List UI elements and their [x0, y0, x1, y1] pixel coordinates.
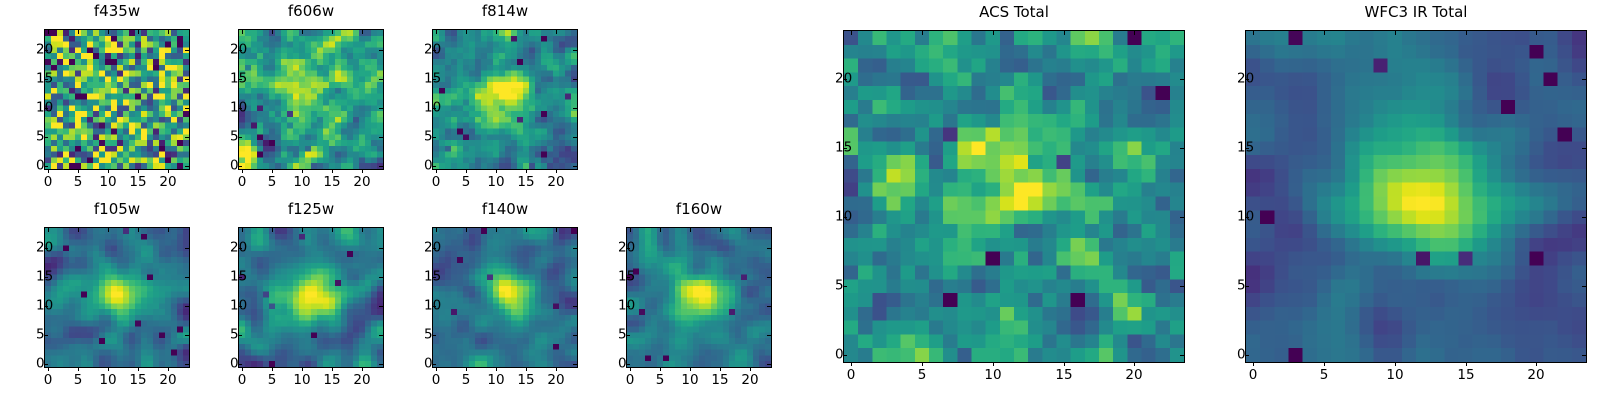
xtick-f435w-15	[138, 169, 139, 173]
xtick-f606w-20	[362, 169, 363, 173]
ytick-right-wfc3-ir-total-10	[1582, 217, 1586, 218]
ytick-acs-total-0	[843, 355, 847, 356]
panel-title-f435w: f435w	[44, 4, 190, 19]
xticklabel-f125w-10: 10	[293, 374, 310, 388]
axes-f160w	[626, 227, 772, 368]
ytick-acs-total-5	[843, 286, 847, 287]
ytick-f606w-5	[238, 137, 242, 138]
panel-f140w: f140w0510152005101520	[432, 201, 578, 394]
xticklabel-f814w-0: 0	[432, 176, 441, 190]
xtick-top-f160w-10	[690, 228, 691, 232]
xtick-f125w-20	[362, 367, 363, 371]
panel-title-f125w: f125w	[238, 202, 384, 217]
xtick-top-f160w-20	[750, 228, 751, 232]
xtick-acs-total-15	[1064, 362, 1065, 366]
xticklabel-wfc3-ir-total-5: 5	[1320, 369, 1329, 383]
xtick-top-f140w-5	[466, 228, 467, 232]
xtick-f160w-20	[750, 367, 751, 371]
heatmap-wfc3-ir-total	[1246, 31, 1586, 362]
xticklabel-acs-total-0: 0	[847, 369, 856, 383]
axes-f125w	[238, 227, 384, 368]
xticklabel-wfc3-ir-total-20: 20	[1527, 369, 1544, 383]
ytick-f814w-5	[432, 137, 436, 138]
xtick-f140w-20	[556, 367, 557, 371]
heatmap-f105w	[45, 228, 189, 367]
xticklabel-f160w-10: 10	[681, 374, 698, 388]
xtick-top-f435w-10	[108, 30, 109, 34]
xtick-f814w-15	[526, 169, 527, 173]
axes-f105w	[44, 227, 190, 368]
panel-title-f814w: f814w	[432, 4, 578, 19]
ytick-right-f814w-10	[573, 108, 577, 109]
xtick-top-wfc3-ir-total-0	[1253, 31, 1254, 35]
ytick-right-f435w-20	[185, 50, 189, 51]
xtick-f814w-0	[436, 169, 437, 173]
xtick-f435w-5	[78, 169, 79, 173]
xtick-top-acs-total-20	[1134, 31, 1135, 35]
xticklabel-f140w-10: 10	[487, 374, 504, 388]
ytick-right-wfc3-ir-total-15	[1582, 148, 1586, 149]
panel-f606w: f606w0510152005101520	[238, 3, 384, 196]
xticklabel-f105w-15: 15	[129, 374, 146, 388]
xticklabel-f435w-0: 0	[44, 176, 53, 190]
axes-f814w	[432, 29, 578, 170]
xtick-f105w-20	[168, 367, 169, 371]
xticklabel-f606w-0: 0	[238, 176, 247, 190]
xtick-wfc3-ir-total-20	[1536, 362, 1537, 366]
xtick-top-f606w-5	[272, 30, 273, 34]
xticklabel-f160w-20: 20	[741, 374, 758, 388]
xtick-f814w-20	[556, 169, 557, 173]
heatmap-acs-total	[844, 31, 1184, 362]
xtick-top-f125w-15	[332, 228, 333, 232]
xtick-f140w-15	[526, 367, 527, 371]
xtick-top-acs-total-5	[922, 31, 923, 35]
xtick-top-f814w-5	[466, 30, 467, 34]
axes-acs-total	[843, 30, 1185, 363]
xticklabel-f125w-0: 0	[238, 374, 247, 388]
xtick-top-f160w-5	[660, 228, 661, 232]
xtick-top-f814w-10	[496, 30, 497, 34]
ytick-right-acs-total-0	[1180, 355, 1184, 356]
xtick-wfc3-ir-total-0	[1253, 362, 1254, 366]
xtick-top-f606w-15	[332, 30, 333, 34]
xticklabel-f160w-15: 15	[711, 374, 728, 388]
xtick-f606w-5	[272, 169, 273, 173]
xticklabel-f435w-5: 5	[74, 176, 83, 190]
xtick-f435w-10	[108, 169, 109, 173]
xtick-top-wfc3-ir-total-20	[1536, 31, 1537, 35]
xticklabel-f105w-10: 10	[99, 374, 116, 388]
xticklabel-f125w-15: 15	[323, 374, 340, 388]
xtick-f125w-0	[242, 367, 243, 371]
xtick-top-f606w-0	[242, 30, 243, 34]
xticklabel-f435w-15: 15	[129, 176, 146, 190]
ytick-right-f606w-15	[379, 79, 383, 80]
xticklabel-acs-total-20: 20	[1125, 369, 1142, 383]
xtick-f105w-15	[138, 367, 139, 371]
heatmap-f140w	[433, 228, 577, 367]
xticklabel-f814w-20: 20	[547, 176, 564, 190]
xtick-f140w-0	[436, 367, 437, 371]
xtick-top-f125w-10	[302, 228, 303, 232]
xtick-top-f125w-20	[362, 228, 363, 232]
ytick-right-f125w-0	[379, 364, 383, 365]
ytick-right-f105w-15	[185, 277, 189, 278]
panel-f125w: f125w0510152005101520	[238, 201, 384, 394]
xticklabel-acs-total-5: 5	[918, 369, 927, 383]
xticklabel-f105w-0: 0	[44, 374, 53, 388]
ytick-right-f125w-5	[379, 335, 383, 336]
ytick-right-f814w-20	[573, 50, 577, 51]
xtick-top-f814w-20	[556, 30, 557, 34]
ytick-right-f140w-5	[573, 335, 577, 336]
xticklabel-f814w-10: 10	[487, 176, 504, 190]
xtick-top-acs-total-10	[993, 31, 994, 35]
xtick-top-f160w-15	[720, 228, 721, 232]
ytick-wfc3-ir-total-0	[1245, 355, 1249, 356]
xtick-f606w-15	[332, 169, 333, 173]
xtick-f435w-0	[48, 169, 49, 173]
xticklabel-f435w-20: 20	[159, 176, 176, 190]
ytick-right-f435w-15	[185, 79, 189, 80]
ytick-right-f140w-15	[573, 277, 577, 278]
ytick-right-f606w-0	[379, 166, 383, 167]
xtick-top-acs-total-0	[851, 31, 852, 35]
xtick-top-f606w-20	[362, 30, 363, 34]
xtick-top-f435w-5	[78, 30, 79, 34]
ytick-right-f105w-20	[185, 248, 189, 249]
xtick-top-f435w-0	[48, 30, 49, 34]
panel-title-f160w: f160w	[626, 202, 772, 217]
panel-title-f140w: f140w	[432, 202, 578, 217]
xticklabel-f140w-20: 20	[547, 374, 564, 388]
xtick-top-f125w-5	[272, 228, 273, 232]
ytick-f160w-0	[626, 364, 630, 365]
xtick-top-wfc3-ir-total-5	[1324, 31, 1325, 35]
xtick-top-f140w-20	[556, 228, 557, 232]
ytick-f814w-0	[432, 166, 436, 167]
xtick-top-f435w-20	[168, 30, 169, 34]
ytick-right-acs-total-10	[1180, 217, 1184, 218]
ytick-right-f814w-5	[573, 137, 577, 138]
ytick-f160w-5	[626, 335, 630, 336]
heatmap-f814w	[433, 30, 577, 169]
xtick-top-f814w-15	[526, 30, 527, 34]
ytick-right-f435w-10	[185, 108, 189, 109]
xtick-top-f606w-10	[302, 30, 303, 34]
axes-f435w	[44, 29, 190, 170]
xtick-f140w-10	[496, 367, 497, 371]
xticklabel-f105w-20: 20	[159, 374, 176, 388]
xtick-top-f105w-0	[48, 228, 49, 232]
xtick-f125w-5	[272, 367, 273, 371]
panel-wfc3-ir-total: WFC3 IR Total0510152005101520	[1245, 4, 1587, 389]
xticklabel-f814w-5: 5	[462, 176, 471, 190]
ytick-right-f105w-10	[185, 306, 189, 307]
ytick-f435w-0	[44, 166, 48, 167]
ytick-right-wfc3-ir-total-5	[1582, 286, 1586, 287]
xticklabel-f160w-0: 0	[626, 374, 635, 388]
xtick-f160w-0	[630, 367, 631, 371]
xtick-f105w-10	[108, 367, 109, 371]
ytick-f125w-5	[238, 335, 242, 336]
axes-f140w	[432, 227, 578, 368]
ytick-right-wfc3-ir-total-20	[1582, 79, 1586, 80]
ytick-f606w-0	[238, 166, 242, 167]
xtick-f105w-0	[48, 367, 49, 371]
ytick-right-f435w-5	[185, 137, 189, 138]
xticklabel-f140w-5: 5	[462, 374, 471, 388]
ytick-right-f160w-20	[767, 248, 771, 249]
ytick-right-acs-total-5	[1180, 286, 1184, 287]
xtick-wfc3-ir-total-10	[1395, 362, 1396, 366]
xticklabel-f105w-5: 5	[74, 374, 83, 388]
ytick-right-f140w-10	[573, 306, 577, 307]
heatmap-f606w	[239, 30, 383, 169]
xtick-top-f105w-5	[78, 228, 79, 232]
xtick-acs-total-10	[993, 362, 994, 366]
ytick-right-f140w-0	[573, 364, 577, 365]
ytick-right-f814w-15	[573, 79, 577, 80]
xtick-wfc3-ir-total-5	[1324, 362, 1325, 366]
ytick-f435w-5	[44, 137, 48, 138]
xtick-f160w-15	[720, 367, 721, 371]
xticklabel-f160w-5: 5	[656, 374, 665, 388]
xtick-wfc3-ir-total-15	[1466, 362, 1467, 366]
xtick-f435w-20	[168, 169, 169, 173]
xtick-f140w-5	[466, 367, 467, 371]
ytick-right-f606w-10	[379, 108, 383, 109]
ytick-f125w-0	[238, 364, 242, 365]
ytick-right-f140w-20	[573, 248, 577, 249]
xticklabel-f606w-5: 5	[268, 176, 277, 190]
ytick-f105w-5	[44, 335, 48, 336]
xtick-f814w-10	[496, 169, 497, 173]
axes-wfc3-ir-total	[1245, 30, 1587, 363]
ytick-wfc3-ir-total-5	[1245, 286, 1249, 287]
panel-acs-total: ACS Total0510152005101520	[843, 4, 1185, 389]
ytick-right-f160w-0	[767, 364, 771, 365]
ytick-right-acs-total-20	[1180, 79, 1184, 80]
xtick-top-f140w-15	[526, 228, 527, 232]
xtick-top-f105w-10	[108, 228, 109, 232]
xticklabel-f606w-15: 15	[323, 176, 340, 190]
ytick-right-f160w-5	[767, 335, 771, 336]
ytick-f140w-5	[432, 335, 436, 336]
xtick-top-f105w-20	[168, 228, 169, 232]
xtick-f125w-10	[302, 367, 303, 371]
xtick-top-f140w-10	[496, 228, 497, 232]
xticklabel-f606w-20: 20	[353, 176, 370, 190]
ytick-right-f606w-5	[379, 137, 383, 138]
xtick-top-f814w-0	[436, 30, 437, 34]
xticklabel-f140w-0: 0	[432, 374, 441, 388]
xtick-top-f435w-15	[138, 30, 139, 34]
axes-f606w	[238, 29, 384, 170]
panel-f160w: f160w0510152005101520	[626, 201, 772, 394]
ytick-right-f160w-15	[767, 277, 771, 278]
ytick-right-f105w-5	[185, 335, 189, 336]
xticklabel-f814w-15: 15	[517, 176, 534, 190]
xtick-acs-total-20	[1134, 362, 1135, 366]
panel-f435w: f435w0510152005101520	[44, 3, 190, 196]
xtick-top-f105w-15	[138, 228, 139, 232]
xtick-f105w-5	[78, 367, 79, 371]
ytick-right-f606w-20	[379, 50, 383, 51]
ytick-right-f105w-0	[185, 364, 189, 365]
xtick-top-wfc3-ir-total-10	[1395, 31, 1396, 35]
figure-canvas: f435w0510152005101520f606w05101520051015…	[0, 0, 1600, 400]
panel-title-f606w: f606w	[238, 4, 384, 19]
xticklabel-f606w-10: 10	[293, 176, 310, 190]
panel-f105w: f105w0510152005101520	[44, 201, 190, 394]
xtick-top-f160w-0	[630, 228, 631, 232]
ytick-f105w-0	[44, 364, 48, 365]
ytick-right-f160w-10	[767, 306, 771, 307]
xtick-top-f140w-0	[436, 228, 437, 232]
xticklabel-f140w-15: 15	[517, 374, 534, 388]
xtick-f814w-5	[466, 169, 467, 173]
xtick-top-acs-total-15	[1064, 31, 1065, 35]
xtick-top-wfc3-ir-total-15	[1466, 31, 1467, 35]
xticklabel-f435w-10: 10	[99, 176, 116, 190]
ytick-right-f125w-20	[379, 248, 383, 249]
panel-title-wfc3-ir-total: WFC3 IR Total	[1245, 5, 1587, 20]
xticklabel-acs-total-15: 15	[1055, 369, 1072, 383]
xtick-acs-total-5	[922, 362, 923, 366]
xticklabel-f125w-20: 20	[353, 374, 370, 388]
ytick-right-f435w-0	[185, 166, 189, 167]
xtick-f606w-10	[302, 169, 303, 173]
panel-title-acs-total: ACS Total	[843, 5, 1185, 20]
ytick-right-acs-total-15	[1180, 148, 1184, 149]
xtick-f160w-5	[660, 367, 661, 371]
ytick-f140w-0	[432, 364, 436, 365]
heatmap-f435w	[45, 30, 189, 169]
ytick-right-f125w-15	[379, 277, 383, 278]
heatmap-f125w	[239, 228, 383, 367]
xticklabel-f125w-5: 5	[268, 374, 277, 388]
xticklabel-wfc3-ir-total-0: 0	[1249, 369, 1258, 383]
heatmap-f160w	[627, 228, 771, 367]
ytick-right-f814w-0	[573, 166, 577, 167]
panel-f814w: f814w0510152005101520	[432, 3, 578, 196]
xticklabel-acs-total-10: 10	[984, 369, 1001, 383]
panel-title-f105w: f105w	[44, 202, 190, 217]
xticklabel-wfc3-ir-total-10: 10	[1386, 369, 1403, 383]
xtick-f606w-0	[242, 169, 243, 173]
xtick-f125w-15	[332, 367, 333, 371]
xtick-acs-total-0	[851, 362, 852, 366]
xtick-f160w-10	[690, 367, 691, 371]
ytick-right-wfc3-ir-total-0	[1582, 355, 1586, 356]
ytick-right-f125w-10	[379, 306, 383, 307]
xtick-top-f125w-0	[242, 228, 243, 232]
xticklabel-wfc3-ir-total-15: 15	[1457, 369, 1474, 383]
